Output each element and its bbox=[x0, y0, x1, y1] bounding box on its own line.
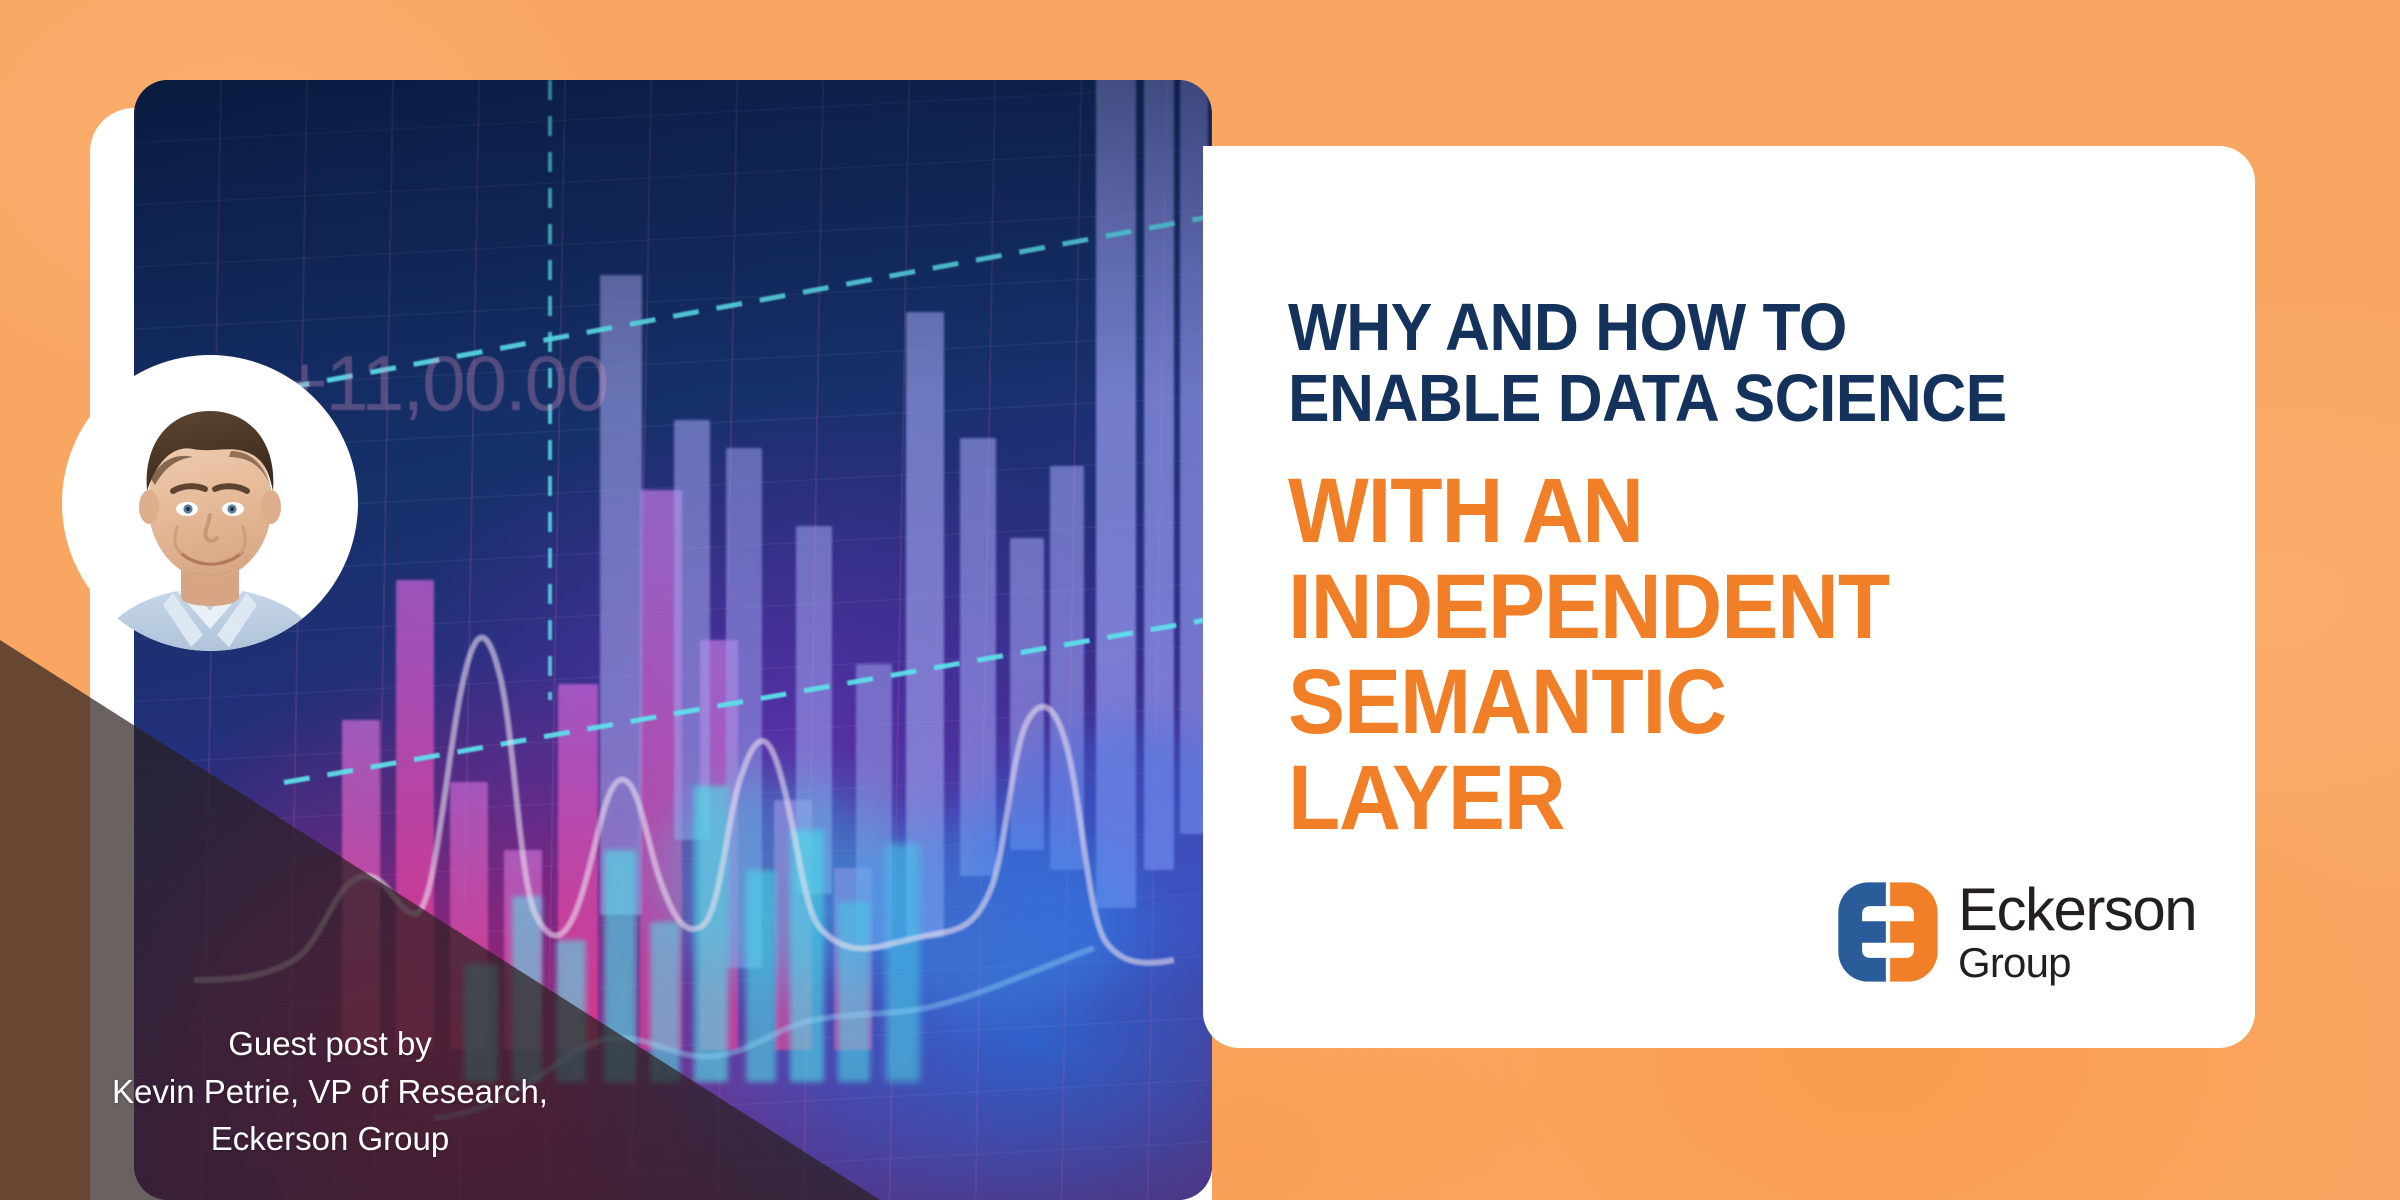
headline-orange-line-4: LAYER bbox=[1288, 751, 2162, 847]
avatar-photo bbox=[81, 367, 339, 651]
caption-line-3: Eckerson Group bbox=[0, 1115, 660, 1163]
caption-line-2: Kevin Petrie, VP of Research, bbox=[0, 1068, 660, 1116]
headline-dark: WHY AND HOW TO ENABLE DATA SCIENCE bbox=[1288, 292, 2162, 434]
headline-orange-line-1: WITH AN bbox=[1288, 464, 2162, 560]
headline-dark-line-1: WHY AND HOW TO bbox=[1288, 292, 2162, 363]
avatar bbox=[62, 355, 358, 651]
headline-orange-line-2: INDEPENDENT bbox=[1288, 560, 2162, 656]
caption-line-1: Guest post by bbox=[0, 1020, 660, 1068]
eckerson-logo-mark bbox=[1834, 878, 1942, 986]
promo-banner: +11,00.00 bbox=[0, 0, 2400, 1200]
eckerson-logo-wordmark: Eckerson Group bbox=[1958, 880, 2196, 984]
headline-orange: WITH AN INDEPENDENT SEMANTIC LAYER bbox=[1288, 464, 2162, 847]
headline-block: WHY AND HOW TO ENABLE DATA SCIENCE WITH … bbox=[1288, 292, 2228, 847]
headline-orange-line-3: SEMANTIC bbox=[1288, 655, 2162, 751]
caption: Guest post by Kevin Petrie, VP of Resear… bbox=[0, 1020, 660, 1163]
logo-word-group: Group bbox=[1958, 942, 2196, 984]
logo-word-eckerson: Eckerson bbox=[1958, 880, 2196, 940]
headline-dark-line-2: ENABLE DATA SCIENCE bbox=[1288, 363, 2162, 434]
eckerson-group-logo[interactable]: Eckerson Group bbox=[1834, 878, 2196, 986]
